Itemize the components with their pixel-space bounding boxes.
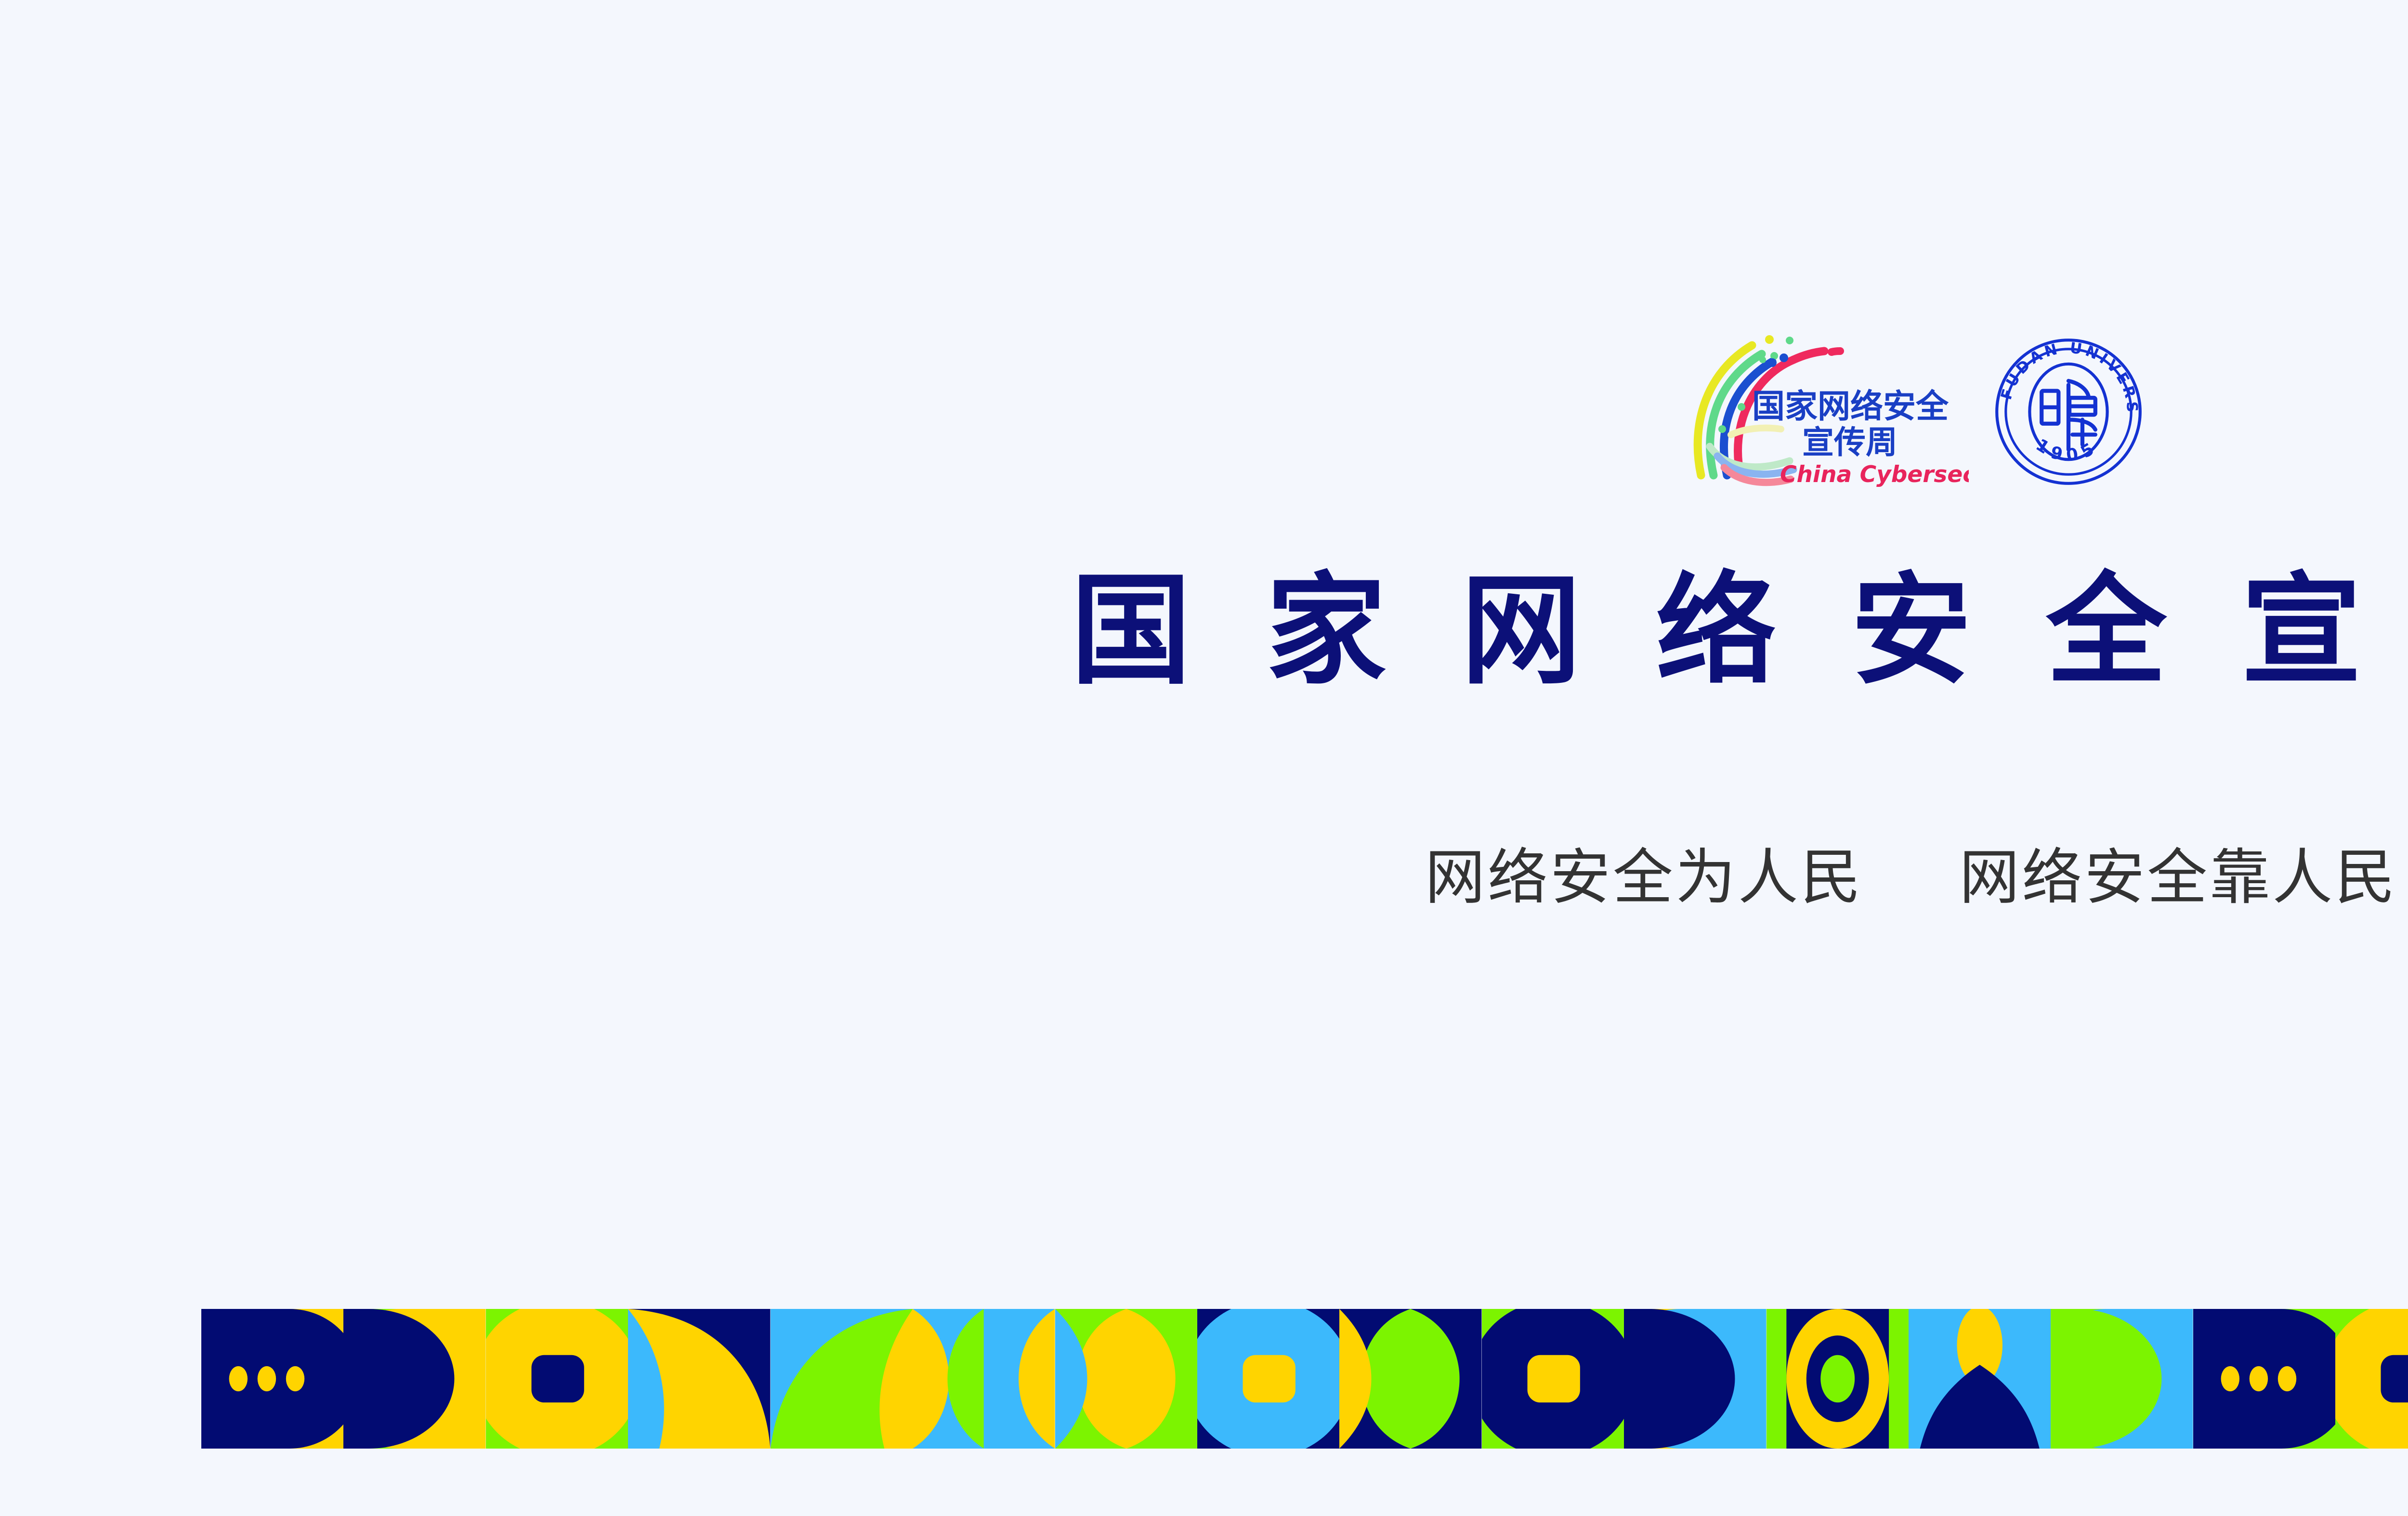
fudan-university-seal: FUDAN UNIVERSITY 1905	[1994, 337, 2143, 486]
pattern-tile	[1197, 1309, 1339, 1449]
svg-text:China Cybersecurity Week: China Cybersecurity Week	[1780, 461, 1969, 488]
pattern-tile	[1767, 1309, 1909, 1449]
tile-motif-leaf-diagonal-flip	[771, 1309, 913, 1449]
pattern-tile	[1339, 1309, 1481, 1449]
pattern-tile	[913, 1309, 1055, 1449]
tile-motif-half-circle-left	[2051, 1309, 2193, 1449]
pattern-tile	[1055, 1309, 1197, 1449]
geometric-pattern-band	[201, 1309, 2408, 1449]
tile-motif-pointed-oval	[1339, 1309, 1481, 1449]
subtitle-left: 网络安全为人民	[1425, 843, 1863, 913]
banner-root: 国家网络安全 宣传周 China Cybersecurity Week FUDA…	[0, 0, 2408, 1516]
tile-motif-rounded-square-hole	[486, 1309, 628, 1449]
tile-motif-leaf-diagonal	[628, 1309, 770, 1449]
tile-motif-three-dots	[201, 1309, 343, 1449]
pattern-tile	[201, 1309, 343, 1449]
tile-motif-pointed-oval-top	[1909, 1309, 2051, 1449]
tile-motif-double-arc	[913, 1309, 1055, 1449]
china-cybersecurity-week-logo: 国家网络安全 宣传周 China Cybersecurity Week	[1680, 335, 1969, 489]
tile-motif-half-circle-left	[343, 1309, 485, 1449]
page-title: 国 家 网 络 安 全 宣 传 周	[0, 568, 2408, 693]
pattern-tile	[2051, 1309, 2193, 1449]
pattern-tile	[771, 1309, 913, 1449]
svg-text:国家网络安全: 国家网络安全	[1752, 388, 1949, 426]
pattern-tile	[1482, 1309, 1624, 1449]
pattern-tile	[1909, 1309, 2051, 1449]
svg-text:宣传周: 宣传周	[1802, 424, 1898, 461]
pattern-tile	[343, 1309, 485, 1449]
tile-motif-half-circle-left	[1624, 1309, 1766, 1449]
pattern-tile	[628, 1309, 770, 1449]
pattern-tile	[1624, 1309, 1766, 1449]
tile-motif-pointed-oval	[1055, 1309, 1197, 1449]
pattern-tile	[2193, 1309, 2335, 1449]
pattern-tile	[486, 1309, 628, 1449]
tile-motif-rounded-square-hole	[1197, 1309, 1339, 1449]
logo-row: 国家网络安全 宣传周 China Cybersecurity Week FUDA…	[0, 332, 2408, 491]
tile-motif-rounded-square-hole	[2335, 1309, 2408, 1449]
page-subtitle: 网络安全为人民 网络安全靠人民	[0, 828, 2408, 915]
pattern-tile	[2335, 1309, 2408, 1449]
tile-motif-three-dots	[2193, 1309, 2335, 1449]
subtitle-right: 网络安全靠人民	[1959, 843, 2397, 913]
tile-motif-concentric-target	[1767, 1309, 1909, 1449]
tile-motif-rounded-square-hole	[1482, 1309, 1624, 1449]
